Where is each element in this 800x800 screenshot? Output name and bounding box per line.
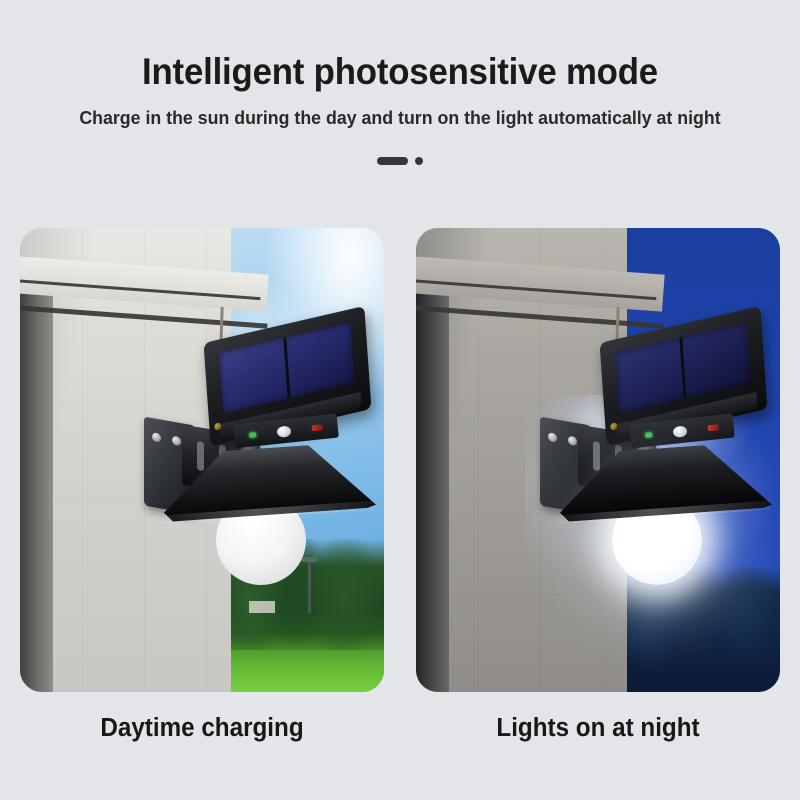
background-house (249, 601, 275, 613)
comparison-cards (20, 228, 780, 692)
red-led-icon (312, 424, 324, 431)
scene-night (416, 228, 780, 692)
wall-recess-day (20, 293, 53, 692)
screw-icon (568, 436, 577, 447)
screw-icon (172, 436, 181, 447)
card-captions: Daytime charging Lights on at night (20, 714, 780, 742)
red-led-icon (708, 424, 720, 431)
header: Intelligent photosensitive mode Charge i… (0, 0, 800, 128)
section-divider (0, 154, 800, 168)
card-daytime-charging (20, 228, 384, 692)
divider-bar-icon (377, 157, 408, 165)
pir-sensor-icon (672, 425, 687, 437)
caption-lights-on-at-night: Lights on at night (425, 714, 771, 742)
green-led-icon (249, 432, 256, 438)
page-subtitle: Charge in the sun during the day and tur… (16, 107, 784, 128)
page-title: Intelligent photosensitive mode (24, 52, 776, 93)
pir-sensor-icon (276, 425, 291, 437)
solar-wall-lamp-day (144, 325, 370, 548)
trees-night (627, 567, 780, 692)
arm-slot (197, 442, 204, 472)
wall-recess-night (416, 293, 449, 692)
lawn-day (231, 650, 384, 692)
card-lights-on-at-night (416, 228, 780, 692)
arm-slot (593, 442, 600, 472)
caption-daytime-charging: Daytime charging (29, 714, 375, 742)
solar-wall-lamp-night (540, 325, 766, 548)
divider-dot-icon (415, 157, 423, 165)
street-lamp-post (308, 561, 311, 613)
screw-icon (152, 432, 161, 443)
green-led-icon (645, 432, 652, 438)
screw-icon (548, 432, 557, 443)
scene-daytime (20, 228, 384, 692)
